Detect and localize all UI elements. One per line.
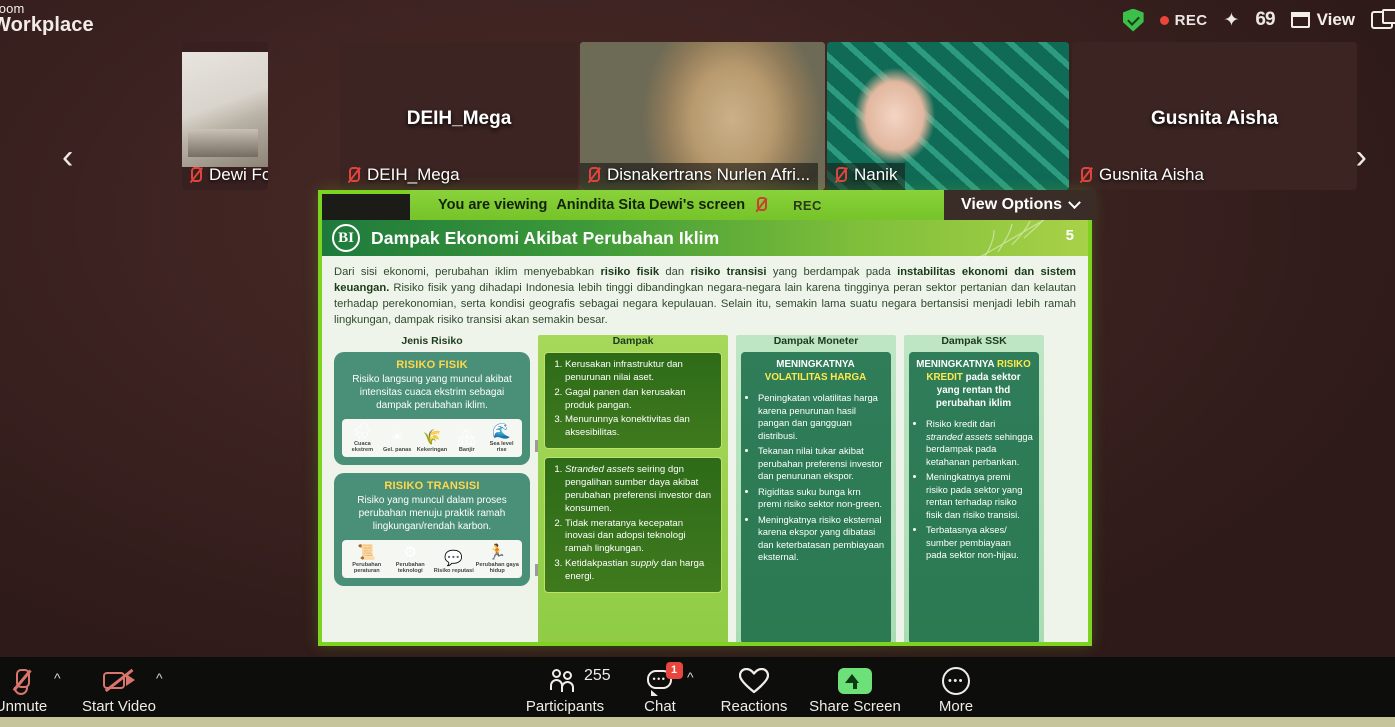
- risk-card-fisik: RISIKO FISIK Risiko langsung yang muncul…: [334, 352, 530, 465]
- video-off-icon: ^: [64, 666, 174, 696]
- column-header-dampak: Dampak: [544, 335, 722, 347]
- mic-muted-icon: [188, 166, 203, 185]
- list-item: Gagal panen dan kerusakan produk pangan.: [565, 387, 715, 413]
- lifestyle-change-icon: 🏃Perubahan gaya hidup: [476, 544, 520, 575]
- extreme-weather-icon: 🌧Cuaca ekstrem: [345, 423, 380, 454]
- slide-body: Dari sisi ekonomi, perubahan iklim menye…: [322, 256, 1088, 642]
- presenter-name: Anindita Sita Dewi's screen: [556, 197, 745, 213]
- reactions-label: Reactions: [699, 698, 809, 715]
- flood-icon-glyph: 🏘: [449, 429, 484, 446]
- participant-name-badge: Disnakertrans Nurlen Afri...: [580, 163, 818, 190]
- regulation-change-icon-glyph: 📜: [345, 544, 389, 561]
- list-item: Rigiditas suku bunga krn premi risiko se…: [758, 486, 885, 511]
- filmstrip-prev-arrow[interactable]: ‹: [62, 140, 73, 174]
- brand-line-zoom: zoom: [0, 2, 94, 15]
- participant-name: Dewi Fortuna 27: [209, 165, 268, 185]
- video-options-caret-icon[interactable]: ^: [156, 670, 163, 686]
- start-video-label: Start Video: [64, 698, 174, 715]
- participants-icon: 255: [510, 666, 620, 696]
- more-icon: •••: [901, 666, 1011, 696]
- participant-name: DEIH_Mega: [367, 165, 460, 185]
- view-options-label: View Options: [961, 196, 1062, 214]
- zoom-meeting-window: zoom Workplace REC ✦ 69 View ‹ › Dew: [0, 0, 1395, 727]
- risk-card-desc: Risiko langsung yang muncul akibat inten…: [342, 373, 522, 413]
- moneter-bullet-list: Peningkatan volatilitas harga karena pen…: [746, 392, 885, 564]
- drought-icon-caption: Kekeringan: [415, 447, 450, 454]
- regulation-change-icon: 📜Perubahan peraturan: [345, 544, 389, 575]
- participant-name-badge: Gusnita Aisha: [1072, 163, 1212, 190]
- participant-filmstrip: ‹ › Dewi Fortuna 27 DEIH_Mega DEIH_Mega …: [0, 42, 1395, 190]
- chevron-down-icon: [1068, 196, 1081, 209]
- recording-label: REC: [1175, 12, 1208, 29]
- more-button[interactable]: ••• More: [901, 666, 1011, 715]
- chat-options-caret-icon[interactable]: ^: [687, 669, 694, 685]
- column-header-dampak-moneter: Dampak Moneter: [741, 335, 891, 347]
- technology-change-icon-caption: Perubahan teknologi: [389, 562, 433, 575]
- top-bar-controls: REC ✦ 69 View: [1123, 0, 1393, 40]
- drought-icon-glyph: 🌾: [415, 429, 450, 446]
- participant-tile[interactable]: DEIH_Mega DEIH_Mega: [340, 42, 578, 190]
- flood-icon: 🏘Banjir: [449, 429, 484, 454]
- ssk-bullet-list: Risiko kredit dari stranded assets sehin…: [914, 418, 1033, 562]
- participant-name: Disnakertrans Nurlen Afri...: [607, 165, 810, 185]
- dampak-box-fisik: Kerusakan infrastruktur dan penurunan ni…: [544, 352, 722, 449]
- column-header-jenis-risiko: Jenis Risiko: [334, 335, 530, 347]
- risk-card-transisi: RISIKO TRANSISI Risiko yang muncul dalam…: [334, 473, 530, 586]
- video-feed: [182, 52, 268, 167]
- sea-level-rise-icon-glyph: 🌊: [484, 423, 519, 440]
- list-item: Menurunnya konektivitas dan aksesibilita…: [565, 414, 715, 440]
- participant-tile[interactable]: Gusnita Aisha Gusnita Aisha: [1072, 42, 1357, 190]
- participant-tile[interactable]: Dewi Fortuna 27: [182, 42, 268, 190]
- slide-paragraph: Dari sisi ekonomi, perubahan iklim menye…: [334, 264, 1076, 328]
- reputation-risk-icon: 💬Risiko reputasi: [432, 550, 476, 575]
- view-button[interactable]: View: [1291, 10, 1355, 30]
- heat-wave-icon-caption: Gel. panas: [380, 447, 415, 454]
- more-label: More: [901, 698, 1011, 715]
- technology-change-icon: ⚙Perubahan teknologi: [389, 544, 433, 575]
- banner-rec-label: REC: [793, 198, 822, 213]
- screen-bezel-strip: [0, 717, 1395, 727]
- mic-muted-icon: [833, 166, 848, 185]
- list-item: Meningkatnya risiko eksternal karena eks…: [758, 514, 885, 564]
- viewing-notice: You are viewing Anindita Sita Dewi's scr…: [410, 190, 944, 220]
- chat-unread-badge: 1: [666, 662, 683, 679]
- risk-card-title: RISIKO TRANSISI: [342, 480, 522, 492]
- reputation-risk-icon-caption: Risiko reputasi: [432, 568, 476, 575]
- dampak-box-transisi: Stranded assets seiring dgn pengalihan s…: [544, 457, 722, 593]
- share-screen-label: Share Screen: [800, 698, 910, 715]
- slide-header: BI Dampak Ekonomi Akibat Perubahan Iklim…: [322, 220, 1088, 256]
- column-dampak-ssk: Dampak SSK MENINGKATNYA RISIKO KREDIT pa…: [904, 335, 1044, 642]
- moneter-box: MENINGKATNYA VOLATILITAS HARGA Peningkat…: [741, 352, 891, 642]
- share-screen-button[interactable]: Share Screen: [800, 666, 910, 715]
- smart-detect-icon[interactable]: 69: [1255, 9, 1274, 31]
- share-screen-icon: [800, 666, 910, 696]
- view-options-button[interactable]: View Options: [944, 190, 1096, 220]
- column-header-dampak-ssk: Dampak SSK: [909, 335, 1039, 347]
- flood-icon-caption: Banjir: [449, 447, 484, 454]
- participant-display-name: DEIH_Mega: [340, 108, 578, 130]
- screen-share-banner: You are viewing Anindita Sita Dewi's scr…: [410, 190, 1096, 220]
- brand-line-workplace: Workplace: [0, 15, 94, 35]
- risk-icon-strip: 🌧Cuaca ekstrem☀Gel. panas🌾Kekeringan🏘Ban…: [342, 419, 522, 457]
- sea-level-rise-icon-caption: Sea level rise: [484, 441, 519, 454]
- list-item: Stranded assets seiring dgn pengalihan s…: [565, 464, 715, 515]
- column-jenis-risiko: Jenis Risiko RISIKO FISIK Risiko langsun…: [334, 335, 530, 642]
- sea-level-rise-icon: 🌊Sea level rise: [484, 423, 519, 454]
- participant-tile[interactable]: Disnakertrans Nurlen Afri...: [580, 42, 825, 190]
- lifestyle-change-icon-glyph: 🏃: [476, 544, 520, 561]
- participant-display-name: Gusnita Aisha: [1072, 108, 1357, 130]
- participant-name: Gusnita Aisha: [1099, 165, 1204, 185]
- ssk-heading-top: MENINGKATNYA: [916, 359, 994, 370]
- ssk-heading: MENINGKATNYA RISIKO KREDIT pada sektor y…: [914, 358, 1033, 410]
- top-bar: zoom Workplace REC ✦ 69 View: [0, 0, 1395, 40]
- list-item: Peningkatan volatilitas harga karena pen…: [758, 392, 885, 442]
- recording-indicator[interactable]: REC: [1160, 12, 1208, 29]
- mic-muted-icon: [754, 196, 768, 214]
- technology-change-icon-glyph: ⚙: [389, 544, 433, 561]
- heart-icon: [699, 666, 809, 696]
- participant-name-badge: Nanik: [827, 163, 905, 190]
- presentation-slide: BI Dampak Ekonomi Akibat Perubahan Iklim…: [322, 220, 1088, 642]
- list-item: Ketidakpastian supply dan harga energi.: [565, 558, 715, 584]
- bank-indonesia-logo-icon: BI: [332, 224, 360, 252]
- heat-wave-icon: ☀Gel. panas: [380, 429, 415, 454]
- sparkle-ai-icon[interactable]: ✦: [1224, 11, 1240, 30]
- mic-muted-icon: [346, 166, 361, 185]
- zoom-workplace-logo: zoom Workplace: [0, 2, 94, 36]
- view-label: View: [1317, 10, 1355, 30]
- participant-name-badge: Dewi Fortuna 27: [182, 163, 268, 190]
- slide-page-number: 5: [1066, 227, 1074, 244]
- filmstrip-next-arrow[interactable]: ›: [1356, 140, 1367, 174]
- reputation-risk-icon-glyph: 💬: [432, 550, 476, 567]
- participant-tile[interactable]: Nanik: [827, 42, 1069, 190]
- list-item: Tekanan nilai tukar akibat perubahan pre…: [758, 445, 885, 483]
- regulation-change-icon-caption: Perubahan peraturan: [345, 562, 389, 575]
- encryption-shield-icon[interactable]: [1123, 9, 1144, 32]
- cast-screen-icon[interactable]: [1371, 11, 1393, 29]
- heat-wave-icon-glyph: ☀: [380, 429, 415, 446]
- record-dot-icon: [1160, 16, 1169, 25]
- moneter-heading-highlight: VOLATILITAS HARGA: [746, 371, 885, 384]
- start-video-button[interactable]: ^ Start Video: [64, 666, 174, 715]
- list-item: Tidak meratanya kecepatan inovasi dan ad…: [565, 518, 715, 557]
- risk-icon-strip: 📜Perubahan peraturan⚙Perubahan teknologi…: [342, 540, 522, 578]
- moneter-heading-top: MENINGKATNYA: [776, 359, 854, 370]
- mic-muted-icon: [1078, 166, 1093, 185]
- list-item: Risiko kredit dari stranded assets sehin…: [926, 418, 1033, 468]
- calendar-icon: [1291, 12, 1310, 28]
- moneter-heading: MENINGKATNYA VOLATILITAS HARGA: [746, 358, 885, 384]
- shared-screen-region: You are viewing Anindita Sita Dewi's scr…: [318, 190, 1092, 646]
- risk-card-desc: Risiko yang muncul dalam proses perubaha…: [342, 494, 522, 534]
- list-item: Kerusakan infrastruktur dan penurunan ni…: [565, 359, 715, 385]
- list-item: Terbatasnya akses/ sumber pembiayaan pad…: [926, 524, 1033, 562]
- mic-muted-icon: [586, 166, 601, 185]
- drought-icon: 🌾Kekeringan: [415, 429, 450, 454]
- reactions-button[interactable]: Reactions: [699, 666, 809, 715]
- lifestyle-change-icon-caption: Perubahan gaya hidup: [476, 562, 520, 575]
- participants-button[interactable]: 255 Participants: [510, 666, 620, 715]
- slide-diagram-grid: Jenis Risiko RISIKO FISIK Risiko langsun…: [334, 335, 1076, 642]
- meeting-toolbar: ^ Unmute ^ Start Video 255 Participants: [0, 657, 1395, 727]
- list-item: Meningkatnya premi risiko pada sektor ya…: [926, 471, 1033, 521]
- slide-title: Dampak Ekonomi Akibat Perubahan Iklim: [371, 228, 719, 249]
- participants-label: Participants: [510, 698, 620, 715]
- column-dampak-moneter: Dampak Moneter MENINGKATNYA VOLATILITAS …: [736, 335, 896, 642]
- extreme-weather-icon-glyph: 🌧: [345, 423, 380, 440]
- risk-card-title: RISIKO FISIK: [342, 359, 522, 371]
- column-dampak: Dampak Kerusakan infrastruktur dan penur…: [538, 335, 728, 642]
- leaf-decoration-icon: [964, 220, 1052, 262]
- viewing-prefix: You are viewing: [438, 197, 547, 213]
- participant-name-badge: DEIH_Mega: [340, 163, 468, 190]
- audio-options-caret-icon[interactable]: ^: [54, 670, 61, 686]
- extreme-weather-icon-caption: Cuaca ekstrem: [345, 441, 380, 454]
- participant-name: Nanik: [854, 165, 897, 185]
- ssk-box: MENINGKATNYA RISIKO KREDIT pada sektor y…: [909, 352, 1039, 642]
